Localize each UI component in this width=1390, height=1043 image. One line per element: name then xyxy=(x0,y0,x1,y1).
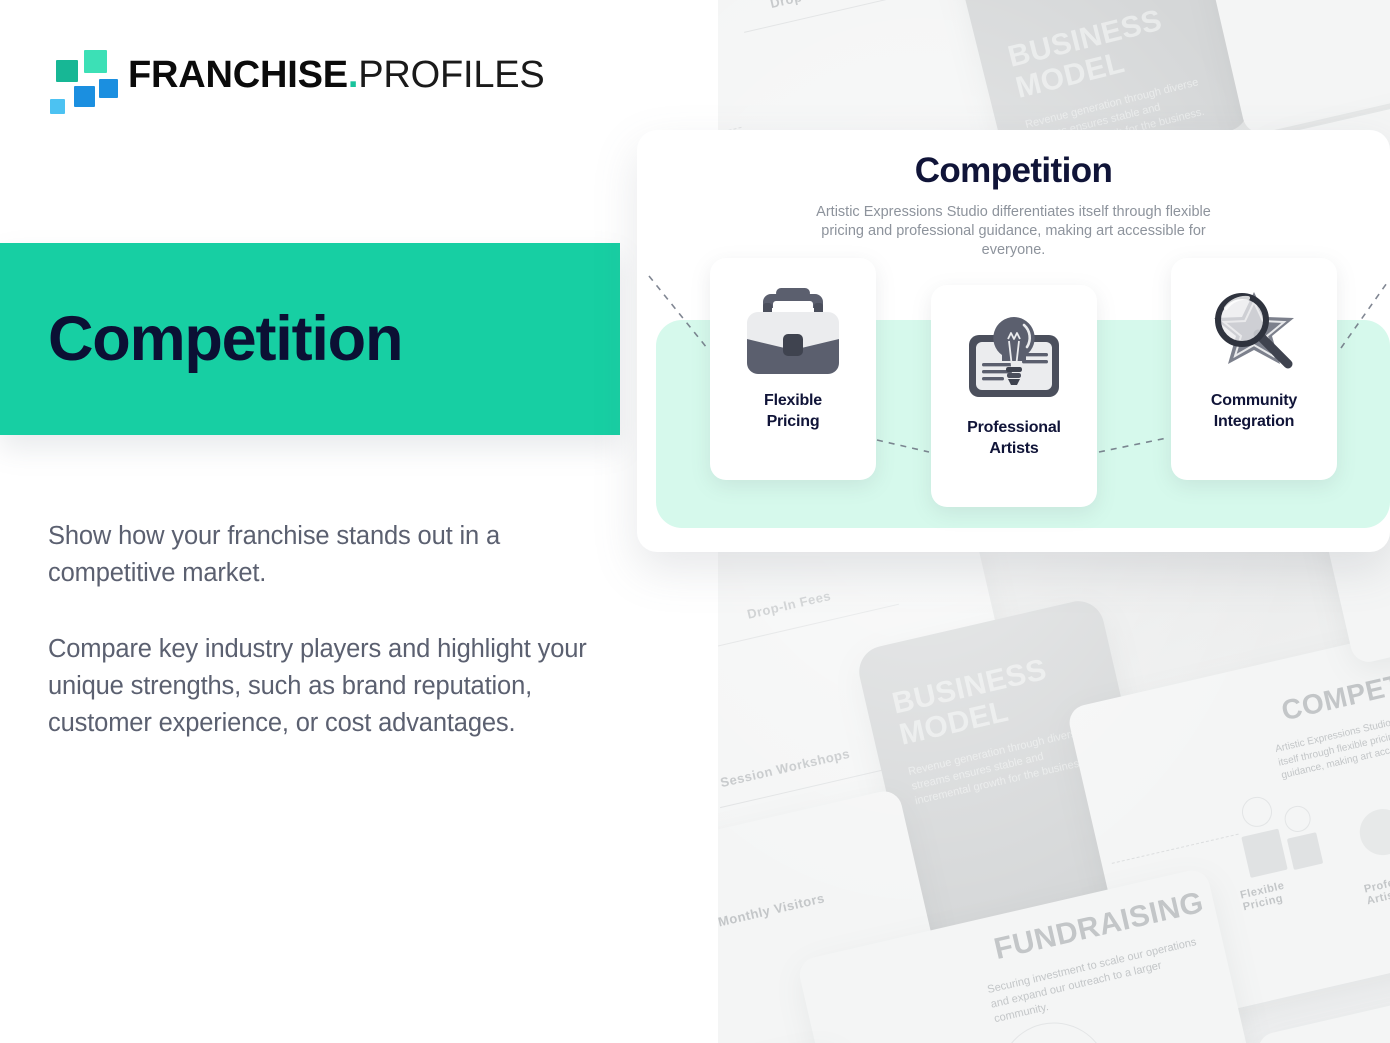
logo-squares-icon xyxy=(48,46,106,104)
feature-label-line2: Artists xyxy=(989,440,1038,457)
bg-label-session-2: Session Workshops xyxy=(719,747,851,790)
feature-label-line2: Pricing xyxy=(767,413,820,430)
star-magnifier-icon xyxy=(1200,278,1308,386)
feature-label-line1: Flexible xyxy=(764,392,822,409)
briefcase-icon xyxy=(739,278,847,386)
feature-tile-flexible-pricing[interactable]: Flexible Pricing xyxy=(710,258,876,480)
brand-name-thin: PROFILES xyxy=(358,54,544,96)
brand-wordmark: FRANCHISE.PROFILES xyxy=(128,56,545,94)
feature-label-line1: Community xyxy=(1211,392,1297,409)
feature-tile-label: Community Integration xyxy=(1203,390,1305,432)
feature-label-line2: Integration xyxy=(1214,413,1294,430)
left-content-panel: FRANCHISE.PROFILES Show how your franchi… xyxy=(0,0,718,1043)
feature-tile-label: Flexible Pricing xyxy=(756,390,830,432)
brand-logo: FRANCHISE.PROFILES xyxy=(48,44,545,106)
section-title-banner: Competition xyxy=(0,243,620,435)
feature-tile-label: Professional Artists xyxy=(959,417,1069,459)
lightbulb-board-icon xyxy=(960,305,1068,413)
description-paragraph-2: Compare key industry players and highlig… xyxy=(48,631,618,742)
slide-preview-card[interactable]: Competition Artistic Expressions Studio … xyxy=(637,130,1390,552)
section-description: Show how your franchise stands out in a … xyxy=(48,518,618,742)
bg-label-dropin-2: Drop-In Fees xyxy=(746,589,832,622)
feature-tiles: Flexible Pricing xyxy=(637,130,1390,552)
bg-label-professional-artists: Professional Artists xyxy=(1363,867,1390,907)
brand-name-bold: FRANCHISE xyxy=(128,54,348,96)
section-title: Competition xyxy=(48,308,402,371)
description-paragraph-1: Show how your franchise stands out in a … xyxy=(48,518,618,592)
bg-label-flexible-pricing: Flexible Pricing xyxy=(1239,875,1312,913)
feature-label-line1: Professional xyxy=(967,419,1061,436)
slide-root: Drop-In Fees Session Workshops Commissio… xyxy=(0,0,1390,1043)
feature-tile-community-integration[interactable]: Community Integration xyxy=(1171,258,1337,480)
feature-tile-professional-artists[interactable]: Professional Artists xyxy=(931,285,1097,507)
brand-name-dot: . xyxy=(348,54,358,96)
bg-title-competition: COMPETITION xyxy=(1279,652,1390,726)
bg-metric-visitors: Monthly Visitors xyxy=(718,891,826,929)
